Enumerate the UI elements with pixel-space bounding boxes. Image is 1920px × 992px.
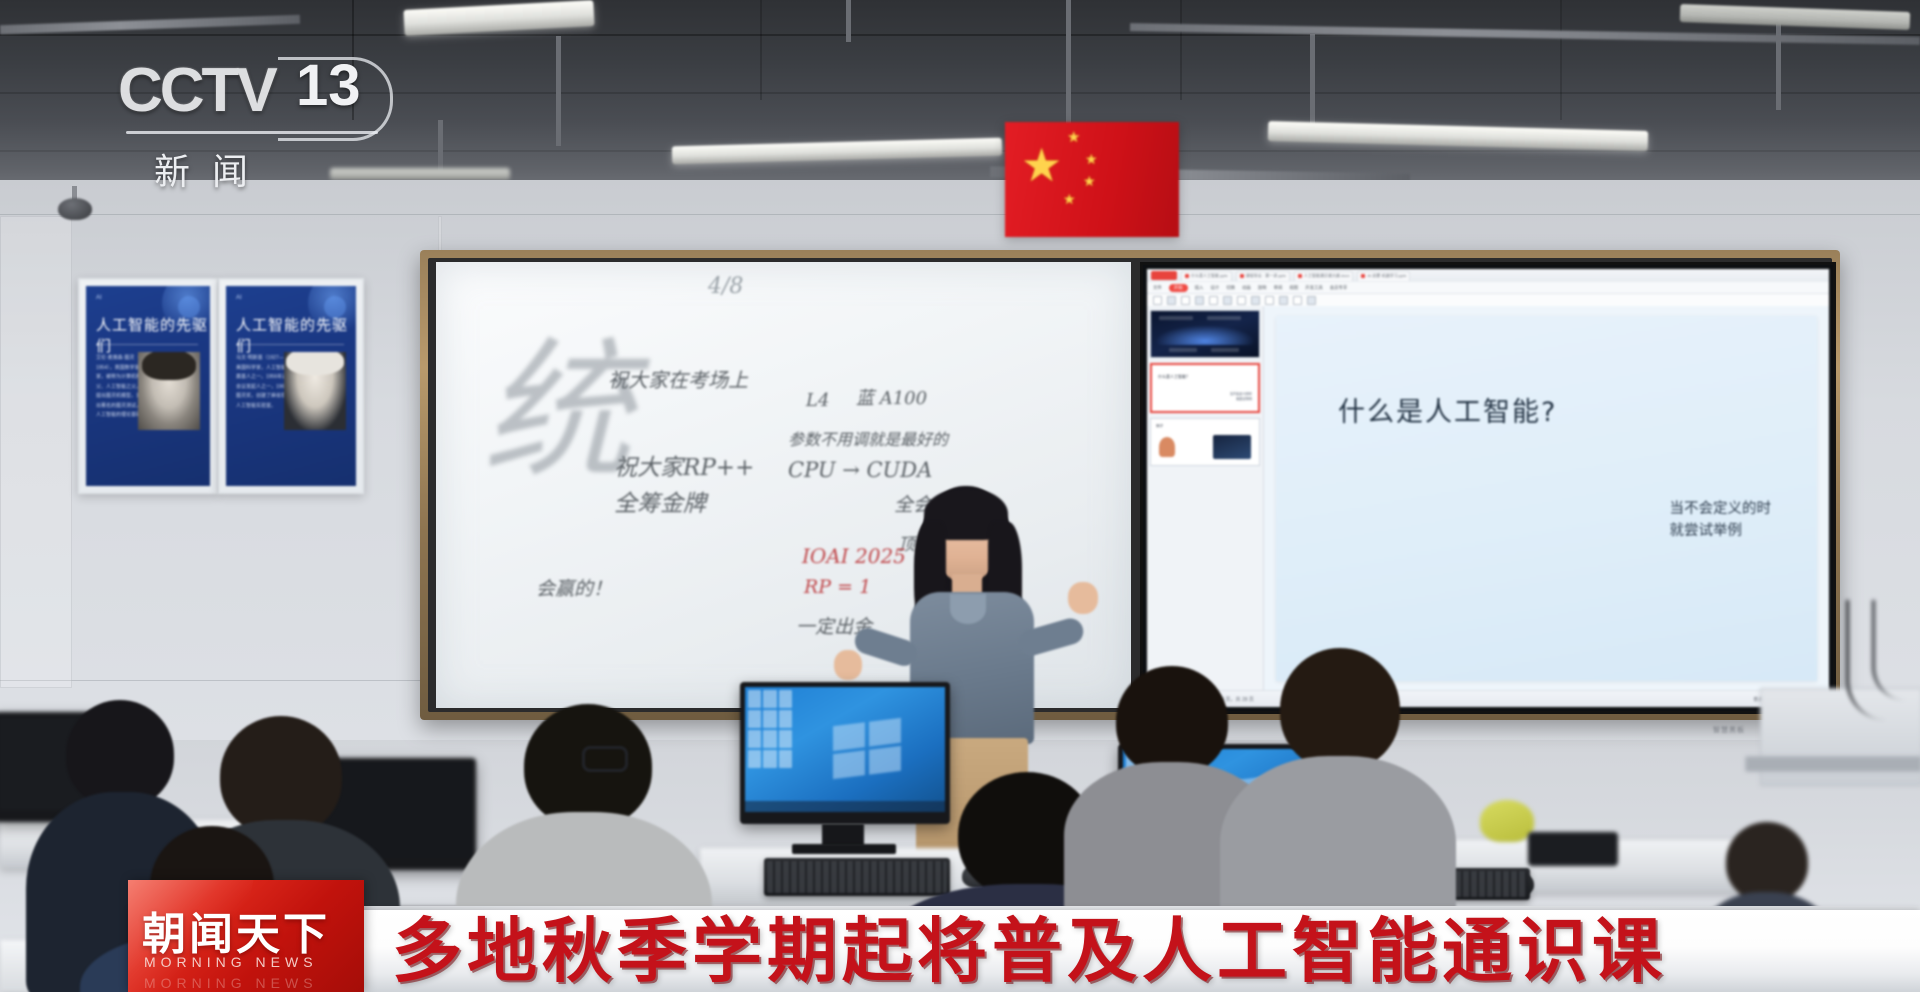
lamp-hanger (846, 0, 851, 42)
whiteboard-note: 4/8 (708, 274, 743, 299)
wps-tab-label: 课程导论 · 第一讲.pptx (1246, 273, 1286, 279)
wps-titlebar: 什么是人工智能.pptx 课程导论 · 第一讲.pptx 人工智能通识课大纲.d… (1147, 269, 1829, 282)
ribbon-tab-review[interactable]: 审阅 (1274, 285, 1283, 291)
poster-brand: AI (236, 295, 242, 301)
ceiling-seam (1560, 0, 1562, 120)
wps-tab-label: 人工智能通识课大纲.docx (1304, 273, 1350, 279)
ribbon-tab-design[interactable]: 设计 (1210, 285, 1219, 291)
whiteboard-note: 祝大家在考场上 (608, 364, 748, 393)
eyeglasses-icon (582, 746, 628, 772)
poster-brand: AI (96, 295, 102, 301)
lamp-hanger (438, 120, 443, 174)
arrange-icon[interactable] (1279, 296, 1288, 305)
wps-tab[interactable]: 什么是人工智能.pptx (1181, 271, 1232, 281)
whiteboard-note: 全筹金牌 (614, 484, 706, 518)
align-left-icon[interactable] (1237, 296, 1246, 305)
slide-note-line1: 当不会定义的时 (1670, 498, 1772, 520)
wps-workspace: 什么是人工智能？ 当不会定义的时 就尝试举例 例子 (1147, 306, 1829, 691)
wps-tab-label: AI 启蒙·机器学习.pptx (1367, 273, 1406, 279)
thumb-subtitle: 当不会定义的时 就尝试举例 (1230, 392, 1252, 402)
wps-tab[interactable]: 人工智能通识课大纲.docx (1294, 271, 1354, 281)
find-replace-icon[interactable] (1307, 296, 1316, 305)
ribbon-tab-member[interactable]: 会员专享 (1330, 285, 1348, 291)
ribbon-tab-devtools[interactable]: 开发工具 (1305, 285, 1323, 291)
channel-logo: CCTV 13 新闻 (118, 55, 368, 175)
font-italic-icon[interactable] (1223, 296, 1232, 305)
doc-icon (1298, 274, 1302, 278)
thumb-title: 例子 (1156, 424, 1163, 429)
whiteboard-note: 参数不用调就是最好的 (788, 426, 948, 450)
ribbon-tab-slideshow[interactable]: 放映 (1258, 285, 1267, 291)
bullet-list-icon[interactable] (1251, 296, 1260, 305)
desktop-icons (748, 690, 792, 768)
channel-number: 13 (296, 52, 361, 119)
slide-thumbnail[interactable]: 例子 (1150, 418, 1260, 466)
poster-ai-pioneers-minsky: AI 人工智能的先驱们 马文·明斯基（1927—2016），美国科学家，人工智能… (218, 278, 364, 494)
poster-portrait (138, 352, 200, 430)
doc-icon (1240, 274, 1244, 278)
shape-icon[interactable] (1265, 296, 1274, 305)
slide-thumbnail-pane[interactable]: 什么是人工智能？ 当不会定义的时 就尝试举例 例子 (1147, 306, 1264, 691)
slide-thumbnail[interactable] (1150, 310, 1260, 358)
ribbon-tab-insert[interactable]: 插入 (1195, 285, 1204, 291)
layout-icon[interactable] (1195, 296, 1204, 305)
ribbon-tab-file[interactable]: 文件 (1153, 285, 1162, 291)
doc-icon (1361, 274, 1365, 278)
whiteboard-note: L4 (806, 390, 829, 411)
format-painter-icon[interactable] (1167, 296, 1176, 305)
program-logo: 朝闻天下 MORNING NEWS MORNING NEWS (128, 880, 364, 992)
thumb-title: 什么是人工智能？ (1158, 374, 1190, 380)
ceiling-seam (760, 0, 762, 100)
wps-tab[interactable]: AI 启蒙·机器学习.pptx (1357, 271, 1410, 281)
lower-third: 朝闻天下 MORNING NEWS MORNING NEWS 多地秋季学期起将普… (0, 880, 1920, 992)
windows-logo-icon (833, 718, 901, 779)
fill-color-icon[interactable] (1293, 296, 1302, 305)
ceiling-seam (1180, 0, 1182, 100)
slide-thumbnail-selected[interactable]: 什么是人工智能？ 当不会定义的时 就尝试举例 (1150, 363, 1260, 413)
whiteboard-note: RP = 1 (804, 576, 871, 598)
poster-title: 人工智能的先驱们 (96, 314, 210, 356)
whiteboard-note: CPU → CUDA (788, 458, 932, 482)
desk-prop (1528, 832, 1618, 866)
smartboard-display[interactable]: 什么是人工智能.pptx 课程导论 · 第一讲.pptx 人工智能通识课大纲.d… (1140, 262, 1836, 714)
poster-title: 人工智能的先驱们 (236, 314, 356, 356)
paste-icon[interactable] (1153, 296, 1162, 305)
logo-underline (126, 131, 378, 134)
smartboard-screen[interactable]: 什么是人工智能.pptx 课程导论 · 第一讲.pptx 人工智能通识课大纲.d… (1147, 269, 1829, 707)
new-slide-icon[interactable] (1181, 296, 1190, 305)
doc-icon (1185, 274, 1189, 278)
poster-ai-pioneers-turing: AI 人工智能的先驱们 艾伦·麦席森·图灵（1912—1954），英国数学家、逻… (78, 278, 218, 494)
slide-note: 当不会定义的时 就尝试举例 (1670, 498, 1772, 543)
program-name-en: MORNING NEWS (144, 954, 350, 970)
broadcast-frame: ★ ★ ★ ★ ★ AI 人工智能的先驱们 艾伦·麦席森·图灵（1912—195… (0, 0, 1920, 992)
active-slide[interactable]: 什么是人工智能? 当不会定义的时 就尝试举例 (1276, 316, 1817, 681)
program-name-cn: 朝闻天下 (142, 898, 350, 962)
wall-panel (0, 216, 72, 688)
security-camera-icon (58, 198, 92, 220)
wall-seam (0, 214, 1920, 215)
lamp-hanger (556, 36, 561, 146)
channel-subtitle: 新闻 (154, 143, 270, 195)
lamp-hanger (1776, 18, 1781, 110)
font-bold-icon[interactable] (1209, 296, 1218, 305)
ribbon-tab-view[interactable]: 视图 (1289, 285, 1298, 291)
lamp-hanger (1310, 34, 1315, 130)
slide-title: 什么是人工智能? (1338, 390, 1557, 429)
ribbon-tab-transition[interactable]: 切换 (1226, 285, 1235, 291)
wps-ribbon-tabs[interactable]: 文件 开始 插入 设计 切换 动画 放映 审阅 视图 开发工具 会员专享 (1147, 282, 1829, 294)
news-headline: 多地秋季学期起将普及人工智能通识课 (392, 915, 1667, 989)
ribbon-tab-home[interactable]: 开始 (1169, 284, 1188, 292)
wps-logo-icon (1151, 271, 1177, 280)
whiteboard-note: 会赢的！ (536, 574, 612, 601)
whiteboard-note: 祝大家RP++ (614, 448, 754, 482)
lamp-hanger (1066, 0, 1071, 126)
poster-portrait (284, 352, 346, 430)
wps-tab-label: 什么是人工智能.pptx (1191, 273, 1228, 279)
slide-canvas[interactable]: 什么是人工智能? 当不会定义的时 就尝试举例 (1264, 306, 1829, 691)
china-flag: ★ ★ ★ ★ ★ (1005, 122, 1179, 237)
slide-note-line2: 就尝试举例 (1670, 520, 1772, 542)
ribbon-tab-animation[interactable]: 动画 (1242, 285, 1251, 291)
whiteboard-note: 蓝 A100 (856, 384, 927, 410)
desk-prop (1480, 800, 1534, 842)
wps-tab[interactable]: 课程导论 · 第一讲.pptx (1236, 271, 1290, 281)
program-name-en-reflection: MORNING NEWS (144, 975, 350, 991)
